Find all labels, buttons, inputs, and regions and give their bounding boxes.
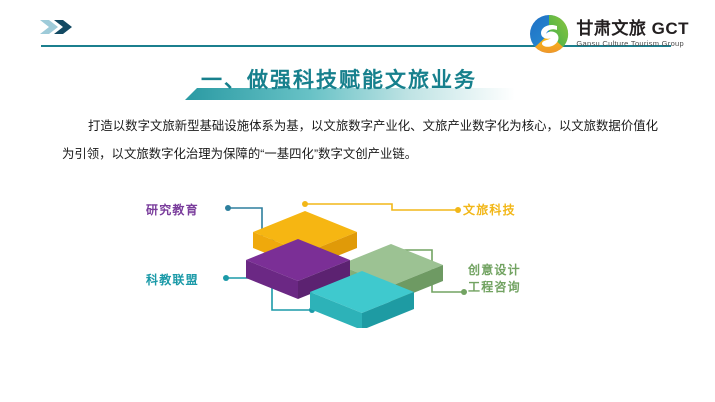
logo-sub-text: Gansu Culture Tourism Group — [576, 40, 689, 48]
diagram-label-tech: 文旅科技 — [463, 202, 516, 219]
slide-canvas: 甘肃文旅 GCT Gansu Culture Tourism Group 一、做… — [0, 0, 715, 402]
title-zone: 一、做强科技赋能文旅业务 — [185, 64, 530, 104]
diagram-label-design-line1: 创意设计 — [468, 262, 521, 279]
diagram-label-design-line2: 工程咨询 — [468, 279, 521, 296]
diagram-label-alliance: 科教联盟 — [146, 272, 199, 289]
connector-tech — [302, 201, 461, 213]
diagram-label-design: 创意设计 工程咨询 — [468, 262, 521, 296]
brand-logo: 甘肃文旅 GCT Gansu Culture Tourism Group — [529, 14, 689, 54]
double-chevron-right-icon — [40, 18, 80, 36]
body-paragraph: 打造以数字文旅新型基础设施体系为基，以文旅数字产业化、文旅产业数字化为核心，以文… — [62, 113, 658, 168]
diagram-label-research: 研究教育 — [146, 202, 199, 219]
logo-main-text: 甘肃文旅 GCT — [576, 20, 689, 37]
paragraph-text: 打造以数字文旅新型基础设施体系为基，以文旅数字产业化、文旅产业数字化为核心，以文… — [62, 119, 658, 161]
isometric-blocks-diagram: 研究教育 科教联盟 文旅科技 创意设计 工程咨询 — [120, 188, 590, 328]
gansu-culture-tourism-logo-icon — [529, 14, 569, 54]
page-title: 一、做强科技赋能文旅业务 — [201, 64, 477, 94]
